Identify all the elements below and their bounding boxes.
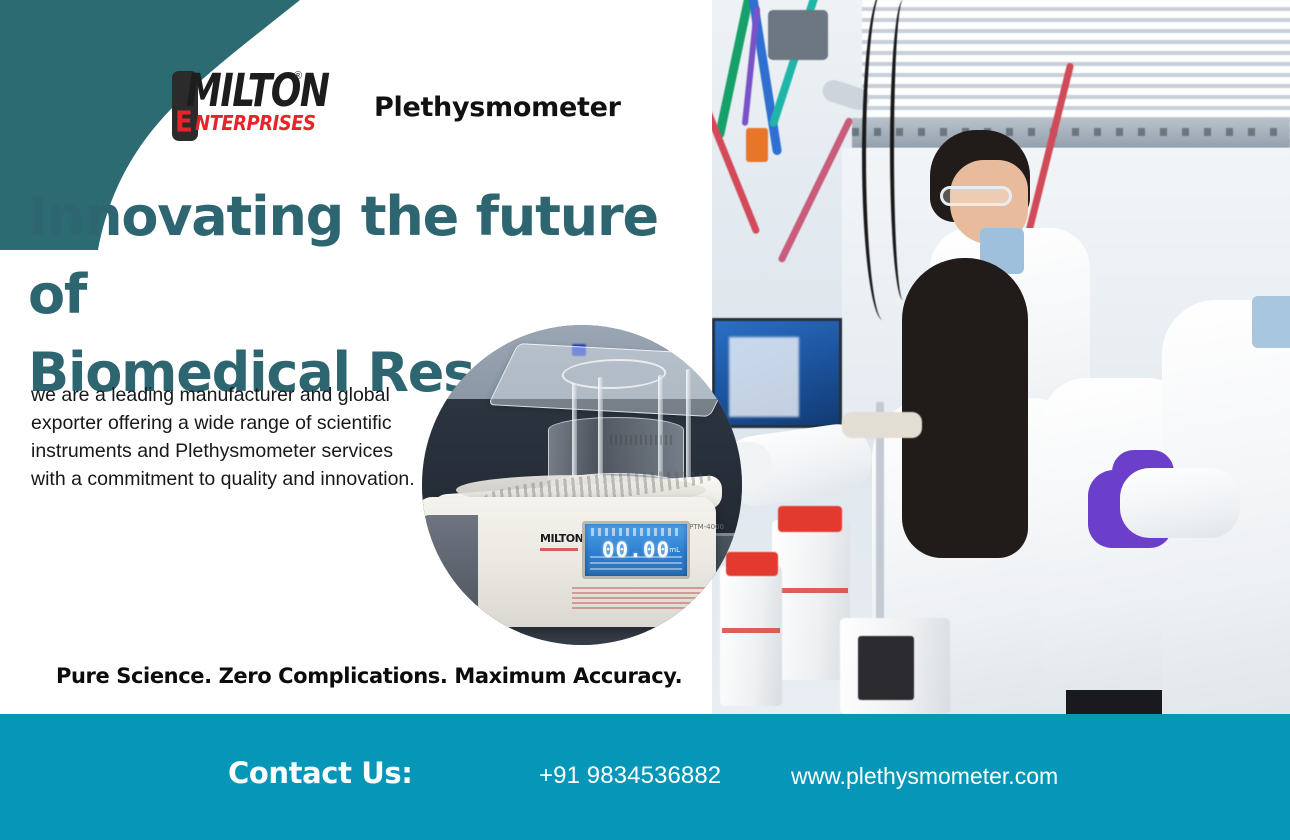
instrument-warning-label: [572, 587, 722, 609]
lcd-info-rows: [590, 556, 682, 572]
scientist-center-hair: [902, 258, 1028, 558]
header-row: MILTON ® E NTERPRISES Plethysmometer: [172, 68, 621, 146]
scientist-mid-trousers: [1066, 690, 1162, 714]
equipment-rail: [852, 118, 1290, 148]
instrument-brand-text: MILTON: [540, 532, 583, 545]
contact-phone[interactable]: +91 9834536882: [539, 762, 721, 790]
registered-trademark-icon: ®: [294, 70, 302, 82]
marketing-banner: MILTON ® E NTERPRISES Plethysmometer Inn…: [0, 0, 1290, 840]
headline-line-1: Innovating the future of: [28, 185, 658, 326]
product-title: Plethysmometer: [374, 92, 621, 123]
milton-enterprises-logo: MILTON ® E NTERPRISES: [172, 68, 312, 146]
instrument-lcd-display: 00.00 mL: [582, 521, 690, 579]
instrument-brand-plate: MILTON: [540, 529, 582, 555]
shirt-collar-right: [1252, 296, 1290, 348]
cable-2: [890, 0, 916, 300]
tagline: Pure Science. Zero Complications. Maximu…: [56, 664, 682, 688]
scientist-right-forearm: [1120, 468, 1240, 538]
instrument-brand-underline: [540, 548, 578, 551]
safety-glasses-back: [940, 186, 1012, 206]
instrument-side-panel: [422, 515, 478, 633]
valve-orange: [746, 128, 768, 162]
lcd-status-row: [591, 528, 681, 536]
logo-wordmark: MILTON: [186, 66, 329, 117]
connector-block: [768, 10, 828, 60]
body-paragraph: we are a leading manufacturer and global…: [31, 381, 423, 493]
lab-stand-clamp: [842, 412, 922, 438]
product-photo-circle: MILTON PTM-4000 00.00 mL: [422, 325, 742, 645]
instrument-model-code: PTM-4000: [689, 523, 724, 531]
contact-label: Contact Us:: [228, 756, 412, 790]
bottle-label-1: [774, 588, 848, 593]
logo-letter-e: E: [175, 106, 193, 139]
reagent-bottle-1: [772, 520, 850, 680]
contact-website[interactable]: www.plethysmometer.com: [791, 763, 1058, 790]
bottle-cap-1: [778, 506, 842, 532]
logo-enterprises-text: NTERPRISES: [195, 112, 315, 136]
cylinder-etched-text: [610, 435, 672, 445]
lcd-unit-label: mL: [669, 546, 680, 554]
lab-photo: [712, 0, 1290, 714]
instrument-screen: [858, 636, 914, 700]
